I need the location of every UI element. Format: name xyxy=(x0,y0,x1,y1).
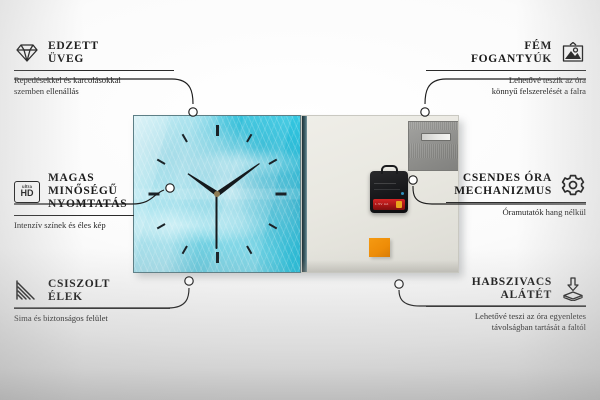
feature-header: FÉM FOGANTYÚK xyxy=(426,40,586,66)
feature-divider xyxy=(426,306,586,307)
feature-description: Lehetővé teszi az óra egyenletes távolsá… xyxy=(426,311,586,333)
feature-header: EDZETT ÜVEG xyxy=(14,40,174,66)
battery: 1.5V AA xyxy=(373,199,405,210)
feature-magas-minosegu-nyomtatas[interactable]: ultra HD MAGAS MINŐSÉGŰ NYOMTATÁS Intenz… xyxy=(14,172,134,231)
feature-title: HABSZIVACS ALÁTÉT xyxy=(472,276,552,302)
feature-title: FÉM FOGANTYÚK xyxy=(471,40,552,66)
clock-tick xyxy=(148,193,159,196)
feature-divider xyxy=(446,202,586,203)
feature-title: CSISZOLT ÉLEK xyxy=(48,278,110,304)
feature-csiszolt-elek[interactable]: CSISZOLT ÉLEK Sima és biztonságos felüle… xyxy=(14,278,170,324)
ultra-hd-icon: ultra HD xyxy=(14,179,40,205)
picture-hanger-icon xyxy=(560,40,586,66)
feature-divider xyxy=(14,308,170,309)
ultra-hd-icon-main-label: HD xyxy=(21,189,34,198)
feature-title: CSENDES ÓRA MECHANIZMUS xyxy=(454,172,552,198)
feature-header: CSENDES ÓRA MECHANIZMUS xyxy=(446,172,586,198)
feature-description: Sima és biztonságos felület xyxy=(14,313,170,324)
back-panel-shading xyxy=(302,260,458,272)
feature-title: EDZETT ÜVEG xyxy=(48,40,99,66)
feature-description: Óramutatók hang nélkül xyxy=(446,207,586,218)
metal-hanger-plate xyxy=(408,121,459,171)
feature-habszivacs-alatet[interactable]: HABSZIVACS ALÁTÉT Lehetővé teszi az óra … xyxy=(426,276,586,333)
connector-endpoint xyxy=(185,277,193,285)
infographic-canvas: 1.5V AA xyxy=(0,0,600,400)
battery-label: 1.5V AA xyxy=(375,202,389,206)
clock-center-cap xyxy=(214,191,220,197)
clock-back-panel: 1.5V AA xyxy=(301,115,459,273)
gear-icon xyxy=(560,172,586,198)
feature-header: CSISZOLT ÉLEK xyxy=(14,278,170,304)
mechanism-handle xyxy=(381,165,398,174)
feature-header: HABSZIVACS ALÁTÉT xyxy=(426,276,586,302)
feature-edzett-uveg[interactable]: EDZETT ÜVEG Repedésekkel és karcolásokka… xyxy=(14,40,174,97)
feature-description: Lehetővé teszik az óra könnyű felszerelé… xyxy=(426,75,586,97)
feature-description: Repedésekkel és karcolásokkal szemben el… xyxy=(14,75,174,97)
feature-header: ultra HD MAGAS MINŐSÉGŰ NYOMTATÁS xyxy=(14,172,134,211)
mechanism-detail-line xyxy=(374,189,400,190)
clock-face-front xyxy=(133,115,301,273)
foam-pad-icon xyxy=(560,276,586,302)
clock-tick xyxy=(275,193,286,196)
feature-csendes-ora-mechanizmus[interactable]: CSENDES ÓRA MECHANIZMUS Óramutatók hang … xyxy=(446,172,586,218)
feature-divider xyxy=(14,215,134,216)
diamond-icon xyxy=(14,40,40,66)
feature-title: MAGAS MINŐSÉGŰ NYOMTATÁS xyxy=(48,172,134,211)
feature-fem-fogantyuk[interactable]: FÉM FOGANTYÚK Lehetővé teszik az óra kön… xyxy=(426,40,586,97)
polished-edges-icon xyxy=(14,278,40,304)
feature-description: Intenzív színek és éles kép xyxy=(14,220,134,231)
feature-divider xyxy=(14,70,174,71)
hanger-slot xyxy=(421,133,451,141)
clock-tick xyxy=(216,252,219,263)
clock-glass-edge xyxy=(302,116,307,272)
clock-tick xyxy=(216,125,219,136)
mechanism-detail-line xyxy=(374,183,396,184)
mechanism-indicator-dot xyxy=(401,192,404,195)
feature-divider xyxy=(426,70,586,71)
product-image: 1.5V AA xyxy=(133,115,463,275)
clock-mechanism: 1.5V AA xyxy=(370,171,408,213)
connector-endpoint xyxy=(395,280,403,288)
foam-spacer-pad xyxy=(369,238,390,257)
battery-terminal xyxy=(396,201,402,208)
